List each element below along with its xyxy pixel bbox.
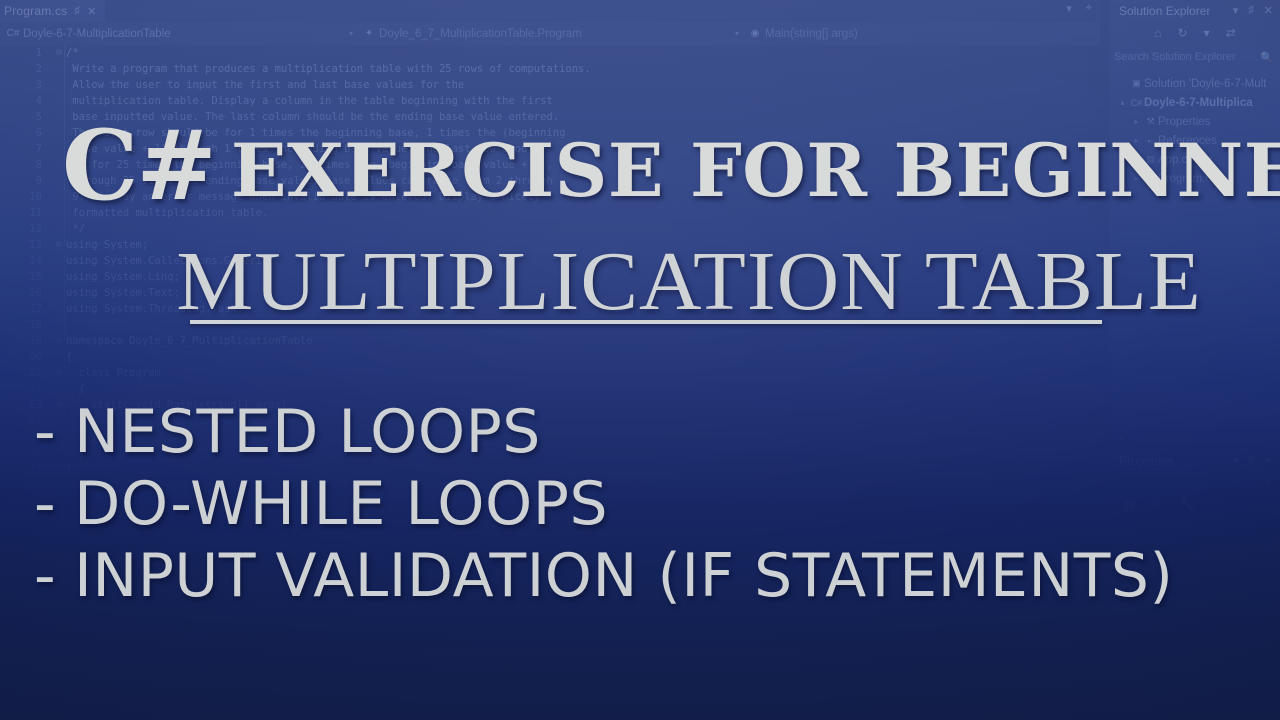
page-title: C#EXERCISE FOR BEGINNERS bbox=[62, 118, 1252, 214]
title-card-content: C#EXERCISE FOR BEGINNERS MULTIPLICATION … bbox=[0, 0, 1280, 720]
page-title-language: C# bbox=[62, 109, 215, 222]
topic-bullet: -NESTED LOOPS bbox=[34, 396, 1244, 468]
title-card-slide: Program.cs ♯ ✕ ▾ ⌖ C# Doyle-6-7-Multipli… bbox=[0, 0, 1280, 720]
page-subtitle: MULTIPLICATION TABLE bbox=[176, 240, 1115, 324]
page-title-rest: EXERCISE FOR BEGINNERS bbox=[231, 128, 1280, 214]
bullet-dash: - bbox=[34, 397, 56, 467]
bullet-label: NESTED LOOPS bbox=[74, 397, 541, 467]
topic-bullet: -INPUT VALIDATION (IF STATEMENTS) bbox=[34, 540, 1244, 612]
subtitle-underline bbox=[190, 320, 1102, 324]
topic-bullet: -DO-WHILE LOOPS bbox=[34, 468, 1244, 540]
bullet-dash: - bbox=[34, 541, 56, 611]
topic-bullet-list: -NESTED LOOPS-DO-WHILE LOOPS-INPUT VALID… bbox=[34, 396, 1244, 612]
bullet-label: INPUT VALIDATION (IF STATEMENTS) bbox=[74, 541, 1173, 611]
bullet-dash: - bbox=[34, 469, 56, 539]
bullet-label: DO-WHILE LOOPS bbox=[74, 469, 608, 539]
